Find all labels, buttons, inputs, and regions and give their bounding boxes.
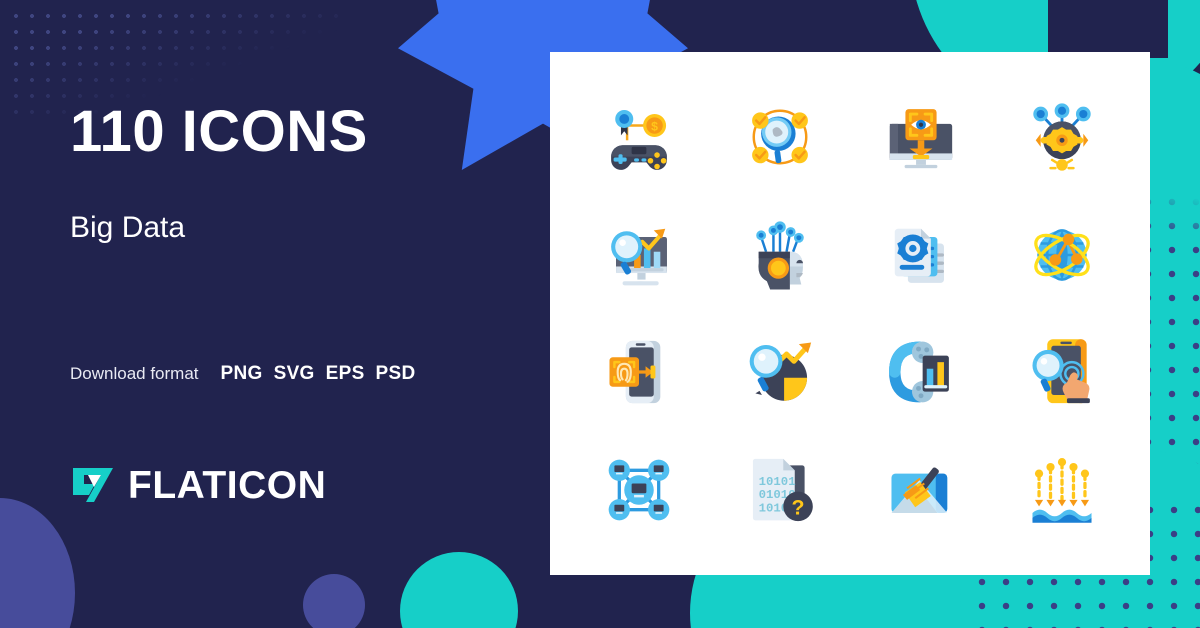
ai-head-neural-network-icon [739,214,821,296]
icon-cell-ai-head-neural-network[interactable] [709,196,850,314]
gamepad-reward-coin-icon: $ [598,96,680,178]
navy-notch-top-right [1048,0,1168,58]
icon-cell-binary-document-question[interactable]: 10101 01010 1010 ? [709,431,850,549]
binary-document-question-icon: 10101 01010 1010 ? [739,449,821,531]
data-lake-icon [1021,449,1103,531]
smartphone-magnifier-hand-icon [1021,331,1103,413]
icon-cell-broom-data-cleaning[interactable] [850,431,991,549]
icon-cell-network-node-gear[interactable] [991,78,1132,196]
banner-stage: 110 ICONS Big Data Download format PNG S… [0,0,1200,628]
format-psd[interactable]: PSD [376,363,416,385]
film-reel-bar-chart-icon [880,331,962,413]
icon-cell-data-lake[interactable] [991,431,1132,549]
globe-orbit-network-icon [1021,214,1103,296]
icon-cell-smartphone-fingerprint[interactable] [568,314,709,432]
icon-cell-pie-chart-magnifier-arrow[interactable] [709,314,850,432]
icon-cell-computer-network[interactable] [568,431,709,549]
purple-circle-left [0,498,75,628]
icon-cell-monitor-growth-chart-magnifier[interactable] [568,196,709,314]
svg-text:?: ? [791,496,804,520]
monitor-growth-chart-magnifier-icon [598,214,680,296]
icon-preview-card: $ [550,52,1150,575]
pie-chart-magnifier-arrow-icon [739,331,821,413]
flaticon-wordmark: FLATICON [128,466,326,505]
documents-gear-icon [880,214,962,296]
network-node-gear-icon [1021,96,1103,178]
icon-cell-documents-gear[interactable] [850,196,991,314]
broom-data-cleaning-icon [880,449,962,531]
format-svg[interactable]: SVG [274,363,315,385]
icon-cell-magnifier-checkmark-coins[interactable] [709,78,850,196]
icon-grid: $ [550,52,1150,575]
icon-cell-globe-orbit-network[interactable] [991,196,1132,314]
monitor-eye-scan-icon [880,96,962,178]
format-list: PNG SVG EPS PSD [221,363,416,385]
page-title: 110 ICONS [70,103,368,161]
icon-cell-smartphone-magnifier-hand[interactable] [991,314,1132,432]
left-content-column: 110 ICONS Big Data Download format PNG S… [70,0,530,628]
magnifier-checkmark-coins-icon [739,96,821,178]
flaticon-logo-mark-icon [70,462,116,508]
format-eps[interactable]: EPS [326,363,365,385]
flaticon-brand[interactable]: FLATICON [70,462,326,508]
icon-cell-film-reel-bar-chart[interactable] [850,314,991,432]
icon-cell-monitor-eye-scan[interactable] [850,78,991,196]
format-png[interactable]: PNG [221,363,263,385]
svg-text:10101: 10101 [758,475,795,489]
computer-network-icon [598,449,680,531]
download-format-label: Download format [70,364,199,384]
icon-cell-gamepad-reward-coin[interactable]: $ [568,78,709,196]
svg-text:$: $ [651,119,658,133]
pack-subtitle: Big Data [70,213,185,243]
download-format-row: Download format PNG SVG EPS PSD [70,363,416,385]
smartphone-fingerprint-icon [598,331,680,413]
